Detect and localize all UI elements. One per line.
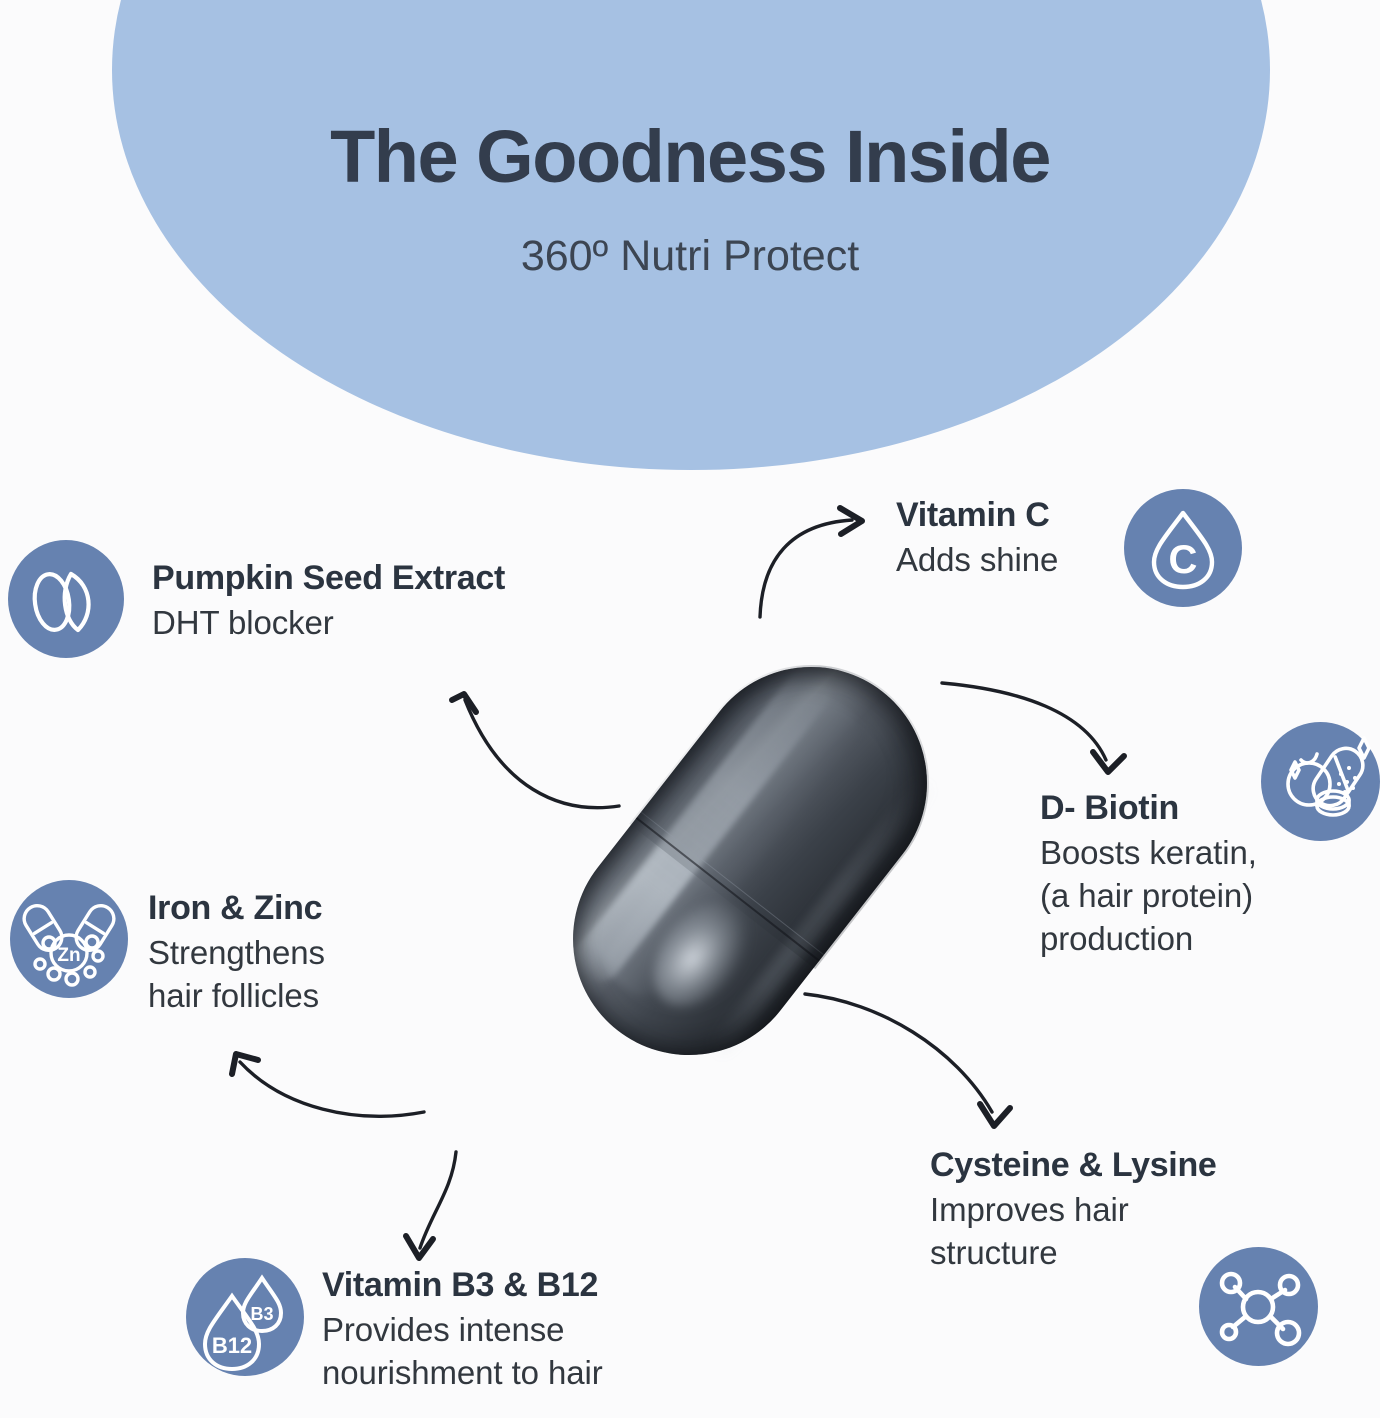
ingredient-vitamin-c: Vitamin C Adds shine xyxy=(896,495,1058,582)
zinc-capsules-icon: Zn xyxy=(10,880,128,998)
ingredient-title: D- Biotin xyxy=(1040,788,1257,828)
infographic-root: The Goodness Inside 360º Nutri Protect xyxy=(0,0,1380,1418)
ingredient-cysteine-and-lysine: Cysteine & Lysine Improves hair structur… xyxy=(930,1145,1217,1275)
vitamin-c-droplet-icon: C xyxy=(1124,489,1242,607)
page-subtitle: 360º Nutri Protect xyxy=(0,232,1380,281)
product-capsule-image xyxy=(425,600,1045,1180)
ingredient-desc: Adds shine xyxy=(896,539,1058,582)
ingredient-desc: Improves hair structure xyxy=(930,1189,1217,1275)
ingredient-title: Pumpkin Seed Extract xyxy=(152,558,505,598)
ingredient-d-biotin: D- Biotin Boosts keratin, (a hair protei… xyxy=(1040,788,1257,961)
ingredient-title: Cysteine & Lysine xyxy=(930,1145,1217,1185)
molecule-icon xyxy=(1199,1247,1318,1366)
ingredient-title: Vitamin C xyxy=(896,495,1058,535)
arrow-to-vitamin-c-head xyxy=(840,508,862,534)
arrow-to-iron-and-zinc xyxy=(240,1062,424,1116)
ingredient-desc: DHT blocker xyxy=(152,602,505,645)
b12-badge-label: B12 xyxy=(212,1333,252,1358)
zinc-badge-label: Zn xyxy=(57,945,80,966)
ingredient-title: Vitamin B3 & B12 xyxy=(322,1265,603,1305)
page-title: The Goodness Inside xyxy=(0,118,1380,196)
pills-sparkle-icon xyxy=(1261,722,1380,841)
arrow-to-vitamin-b3-b12-head xyxy=(406,1236,433,1258)
vitamin-c-badge-letter: C xyxy=(1169,538,1198,582)
pumpkin-seeds-icon xyxy=(8,540,124,658)
arrow-to-iron-and-zinc-head xyxy=(232,1054,258,1074)
ingredient-pumpkin-seed-extract: Pumpkin Seed Extract DHT blocker xyxy=(152,558,505,645)
ingredient-desc: Provides intense nourishment to hair xyxy=(322,1309,603,1395)
capsule-shape xyxy=(526,620,974,1102)
ingredient-vitamin-b3-b12: Vitamin B3 & B12 Provides intense nouris… xyxy=(322,1265,603,1395)
arrow-to-d-biotin-head xyxy=(1093,752,1124,772)
ingredient-title: Iron & Zinc xyxy=(148,888,325,928)
capsule-edge-shading xyxy=(526,620,974,1102)
ingredient-iron-and-zinc: Iron & Zinc Strengthens hair follicles xyxy=(148,888,325,1018)
ingredient-desc: Boosts keratin, (a hair protein) product… xyxy=(1040,832,1257,961)
ingredient-desc: Strengthens hair follicles xyxy=(148,932,325,1018)
b3-b12-droplets-icon: B3 B12 xyxy=(186,1258,304,1376)
b3-badge-label: B3 xyxy=(250,1304,273,1324)
